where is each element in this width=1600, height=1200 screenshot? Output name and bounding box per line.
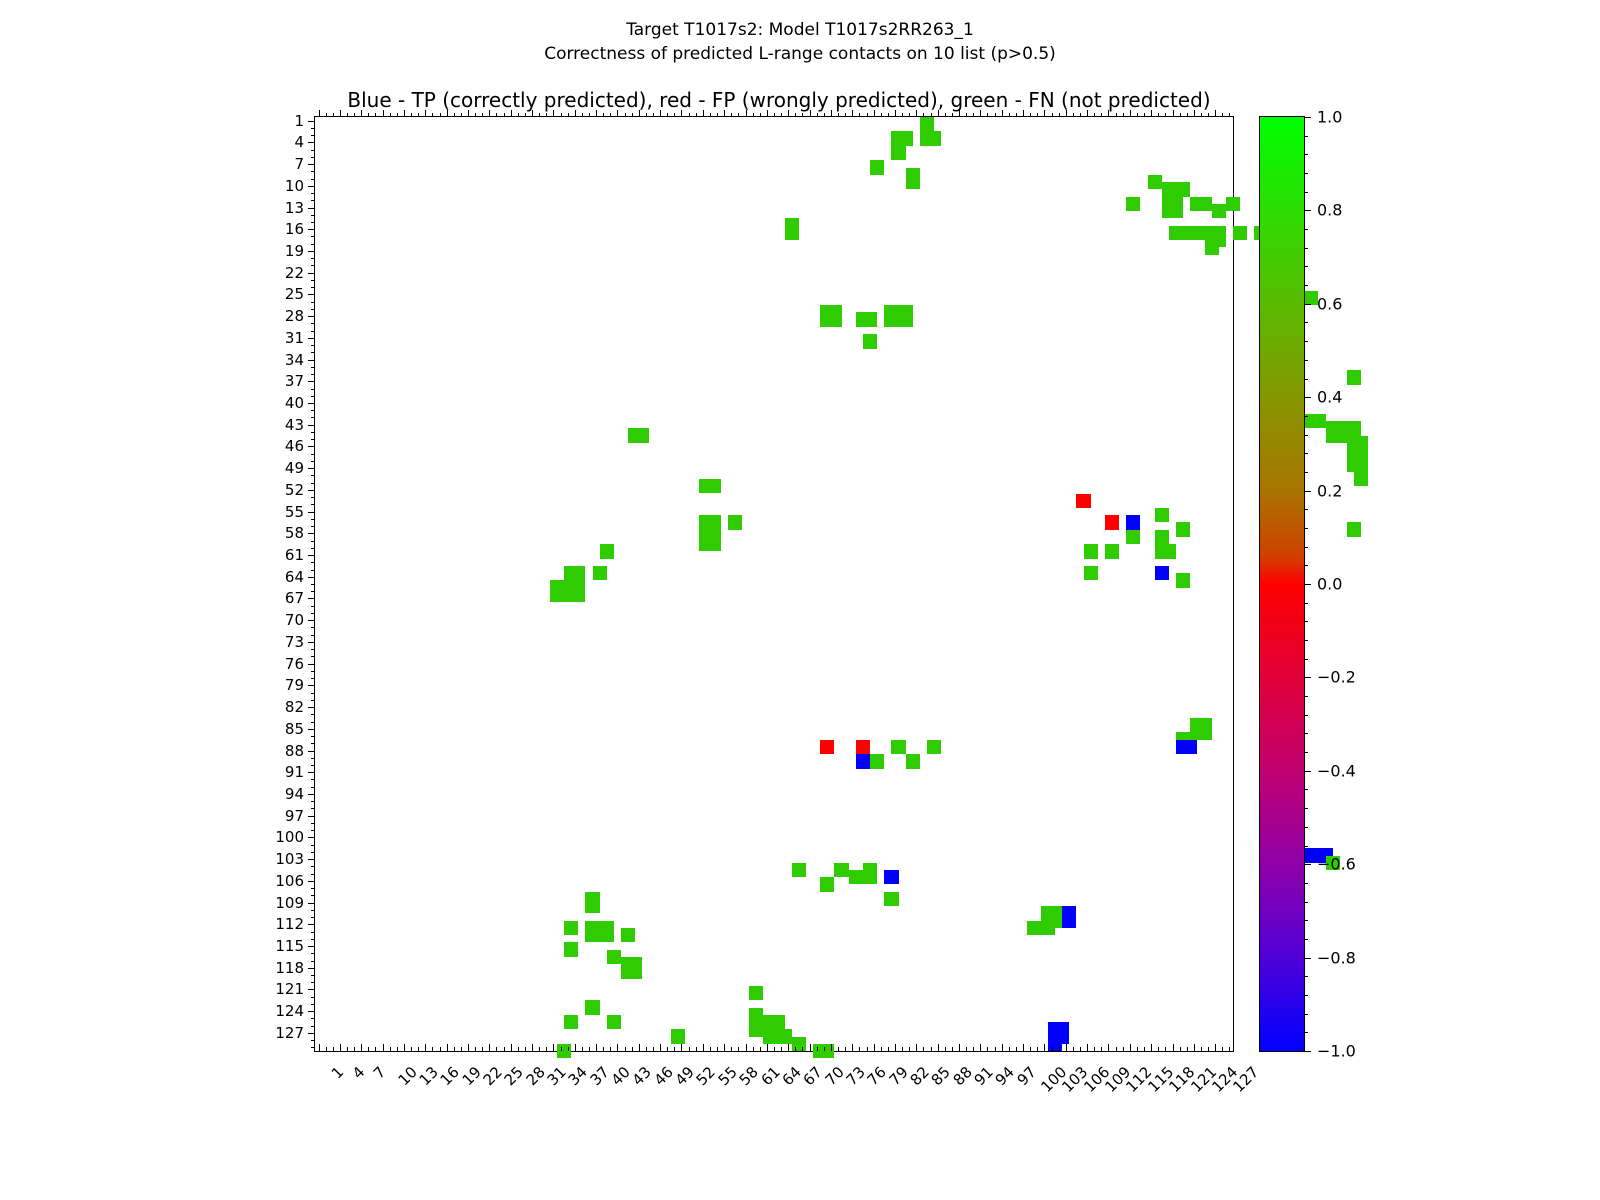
x-tick-top [987, 113, 988, 117]
y-tick-label: 16 [285, 220, 304, 238]
x-tick-bottom [617, 1044, 618, 1051]
contact-cell [1176, 740, 1197, 754]
y-tick [308, 468, 315, 469]
y-tick [311, 700, 315, 701]
y-tick [308, 707, 315, 708]
x-tick-top [845, 113, 846, 117]
y-tick [311, 179, 315, 180]
y-tick [308, 142, 315, 143]
x-tick-bottom [1037, 1047, 1038, 1051]
y-tick [311, 613, 315, 614]
x-tick-bottom [397, 1047, 398, 1051]
x-tick-top [788, 110, 789, 117]
y-tick [308, 208, 315, 209]
x-tick-bottom [788, 1044, 789, 1051]
x-tick-bottom [546, 1047, 547, 1051]
x-tick-bottom [1073, 1047, 1074, 1051]
x-tick-bottom [1066, 1044, 1067, 1051]
x-tick-bottom [1080, 1047, 1081, 1051]
y-tick [311, 649, 315, 650]
x-tick-label: 1 [327, 1063, 346, 1082]
y-tick [308, 251, 315, 252]
y-tick-label: 37 [285, 372, 304, 390]
contact-cell [1105, 515, 1119, 529]
x-tick-bottom [852, 1044, 853, 1051]
x-tick-top [340, 110, 341, 117]
x-tick-bottom [561, 1047, 562, 1051]
x-tick-bottom [767, 1044, 768, 1051]
x-tick-bottom [1187, 1047, 1188, 1051]
y-tick [308, 316, 315, 317]
x-tick-label: 7 [370, 1063, 389, 1082]
x-tick-bottom [959, 1044, 960, 1051]
contact-cell [884, 870, 898, 884]
x-tick-top [760, 113, 761, 117]
contact-cell [621, 957, 642, 979]
y-tick [311, 874, 315, 875]
x-tick-top [568, 113, 569, 117]
x-tick-top [511, 110, 512, 117]
colorbar-minor-tick [1304, 416, 1308, 417]
y-tick-label: 61 [285, 546, 304, 564]
y-tick [311, 1018, 315, 1019]
x-tick-bottom [504, 1047, 505, 1051]
x-tick-top [667, 113, 668, 117]
contact-cell [884, 305, 912, 327]
contact-cell [1226, 197, 1240, 211]
y-tick-label: 22 [285, 264, 304, 282]
colorbar-minor-tick [1304, 1014, 1308, 1015]
contact-cell [820, 740, 834, 754]
contact-cell [792, 1037, 806, 1051]
x-tick-top [881, 113, 882, 117]
contact-map-cells [315, 117, 1233, 1051]
x-tick-top [496, 113, 497, 117]
contact-cell [1126, 530, 1140, 544]
contact-cell [671, 1029, 685, 1043]
x-tick-top [404, 110, 405, 117]
x-tick-label: 97 [1013, 1063, 1039, 1089]
x-tick-bottom [319, 1044, 320, 1051]
x-tick-bottom [383, 1044, 384, 1051]
x-tick-bottom [1094, 1047, 1095, 1051]
figure-suptitle: Target T1017s2: Model T1017s2RR263_1 Cor… [0, 18, 1600, 66]
x-tick-top [390, 113, 391, 117]
x-tick-bottom [454, 1047, 455, 1051]
x-tick-top [1130, 110, 1131, 117]
contact-cell [856, 312, 877, 326]
y-tick [308, 837, 315, 838]
x-tick-bottom [995, 1047, 996, 1051]
contact-cell [1076, 494, 1090, 508]
y-tick-label: 43 [285, 416, 304, 434]
contact-cell [550, 580, 564, 602]
colorbar-tick-label: 0.8 [1317, 201, 1342, 220]
x-tick-bottom [980, 1044, 981, 1051]
x-tick-bottom [1023, 1044, 1024, 1051]
colorbar-minor-tick [1304, 528, 1308, 529]
y-tick-label: 94 [285, 785, 304, 803]
colorbar-tick-label: −1.0 [1317, 1042, 1356, 1061]
y-tick [308, 881, 315, 882]
x-tick-top [1101, 113, 1102, 117]
x-tick-top [454, 113, 455, 117]
x-tick-top [1194, 110, 1195, 117]
colorbar-minor-tick [1304, 789, 1308, 790]
x-tick-bottom [639, 1044, 640, 1051]
x-tick-bottom [468, 1044, 469, 1051]
x-tick-top [418, 113, 419, 117]
colorbar-tick-label: 0.2 [1317, 481, 1342, 500]
x-tick-top [681, 110, 682, 117]
contact-cell [785, 218, 799, 240]
x-tick-bottom [361, 1044, 362, 1051]
colorbar-tick-label: −0.4 [1317, 761, 1356, 780]
contact-cell [1347, 370, 1361, 384]
y-tick [311, 997, 315, 998]
x-tick-bottom [1229, 1047, 1230, 1051]
y-tick [308, 446, 315, 447]
y-tick [311, 128, 315, 129]
y-tick [311, 627, 315, 628]
y-tick [311, 584, 315, 585]
x-tick-bottom [340, 1044, 341, 1051]
x-tick-bottom [674, 1047, 675, 1051]
y-tick [311, 1004, 315, 1005]
contact-cell [600, 544, 614, 558]
x-tick-top [582, 113, 583, 117]
contact-cell [621, 928, 635, 942]
y-tick [311, 1026, 315, 1027]
colorbar-minor-tick [1304, 472, 1308, 473]
y-tick-label: 73 [285, 633, 304, 651]
colorbar-tick [1304, 771, 1311, 772]
y-tick [311, 1040, 315, 1041]
colorbar-tick [1304, 491, 1311, 492]
y-tick [311, 410, 315, 411]
x-tick-bottom [1059, 1047, 1060, 1051]
x-tick-top [375, 113, 376, 117]
x-tick-top [753, 113, 754, 117]
y-tick [311, 439, 315, 440]
x-tick-bottom [909, 1047, 910, 1051]
y-tick [311, 562, 315, 563]
contact-cell [1354, 465, 1368, 487]
y-tick [311, 910, 315, 911]
contact-cell [1155, 508, 1169, 522]
y-tick [308, 1033, 315, 1034]
contact-cell [564, 1015, 578, 1029]
x-tick-top [646, 113, 647, 117]
x-tick-top [504, 113, 505, 117]
y-tick [311, 222, 315, 223]
y-tick-label: 115 [275, 937, 304, 955]
x-tick-bottom [553, 1044, 554, 1051]
x-tick-bottom [1194, 1044, 1195, 1051]
x-tick-top [1094, 113, 1095, 117]
x-tick-top [1165, 113, 1166, 117]
y-tick [311, 779, 315, 780]
x-tick-bottom [1009, 1047, 1010, 1051]
x-tick-bottom [1151, 1044, 1152, 1051]
x-tick-bottom [525, 1047, 526, 1051]
y-tick-label: 67 [285, 589, 304, 607]
y-tick [311, 258, 315, 259]
y-tick [311, 714, 315, 715]
colorbar-minor-tick [1304, 603, 1308, 604]
contact-cell [1148, 175, 1162, 189]
x-tick-bottom [632, 1047, 633, 1051]
y-tick-label: 46 [285, 437, 304, 455]
x-tick-label: 4 [349, 1063, 368, 1082]
colorbar-minor-tick [1304, 733, 1308, 734]
y-tick [311, 635, 315, 636]
x-tick-bottom [895, 1044, 896, 1051]
x-tick-bottom [1201, 1047, 1202, 1051]
x-tick-top [326, 113, 327, 117]
contact-cell [607, 1015, 621, 1029]
x-tick-bottom [931, 1047, 932, 1051]
y-tick-label: 64 [285, 568, 304, 586]
x-tick-bottom [610, 1047, 611, 1051]
y-tick [308, 273, 315, 274]
x-tick-bottom [966, 1047, 967, 1051]
contact-cell [1105, 544, 1119, 558]
contact-cell [585, 1000, 599, 1014]
x-tick-bottom [596, 1044, 597, 1051]
contact-cell [1084, 566, 1098, 580]
y-tick [308, 229, 315, 230]
x-tick-top [874, 110, 875, 117]
y-tick [311, 975, 315, 976]
x-tick-bottom [603, 1047, 604, 1051]
x-tick-bottom [753, 1047, 754, 1051]
contact-cell [585, 921, 613, 943]
x-tick-top [767, 110, 768, 117]
y-tick [311, 483, 315, 484]
x-tick-bottom [1165, 1047, 1166, 1051]
x-tick-top [973, 113, 974, 117]
y-tick [311, 808, 315, 809]
y-tick-label: 13 [285, 199, 304, 217]
y-tick [311, 953, 315, 954]
y-tick [308, 664, 315, 665]
y-tick [308, 989, 315, 990]
y-tick-label: 49 [285, 459, 304, 477]
y-tick [308, 816, 315, 817]
x-tick-top [1187, 113, 1188, 117]
x-tick-top [909, 113, 910, 117]
contact-map-plot[interactable]: 1471013161922252831343740434649525558616… [314, 116, 1234, 1052]
x-tick-bottom [1044, 1044, 1045, 1051]
colorbar-minor-tick [1304, 640, 1308, 641]
y-tick [311, 265, 315, 266]
contact-cell [1212, 204, 1226, 218]
x-tick-bottom [681, 1044, 682, 1051]
x-tick-top [603, 113, 604, 117]
x-tick-top [867, 113, 868, 117]
y-tick [311, 454, 315, 455]
y-tick [311, 244, 315, 245]
x-tick-top [1052, 113, 1053, 117]
x-tick-top [724, 110, 725, 117]
x-tick-bottom [1016, 1047, 1017, 1051]
contact-cell [1176, 573, 1190, 587]
x-tick-bottom [1002, 1044, 1003, 1051]
x-tick-top [1158, 113, 1159, 117]
x-tick-top [810, 110, 811, 117]
colorbar-minor-tick [1304, 248, 1308, 249]
x-tick-top [1215, 110, 1216, 117]
x-tick-top [995, 113, 996, 117]
x-tick-top [1044, 110, 1045, 117]
colorbar-tick-label: 0.4 [1317, 388, 1342, 407]
x-tick-top [432, 113, 433, 117]
x-tick-bottom [738, 1047, 739, 1051]
y-tick [311, 895, 315, 896]
x-tick-bottom [867, 1047, 868, 1051]
x-tick-bottom [859, 1047, 860, 1051]
x-tick-bottom [1108, 1044, 1109, 1051]
x-tick-top [532, 110, 533, 117]
x-tick-top [489, 110, 490, 117]
colorbar-minor-tick [1304, 229, 1308, 230]
y-tick [308, 772, 315, 773]
colorbar-minor-tick [1304, 136, 1308, 137]
contact-cell [1126, 197, 1140, 211]
contact-cell [564, 942, 578, 956]
x-tick-bottom [646, 1047, 647, 1051]
y-tick [311, 323, 315, 324]
x-tick-top [1180, 113, 1181, 117]
x-tick-top [1002, 110, 1003, 117]
x-tick-top [852, 110, 853, 117]
x-tick-top [518, 113, 519, 117]
y-tick [311, 287, 315, 288]
x-tick-top [575, 110, 576, 117]
x-tick-top [959, 110, 960, 117]
x-tick-bottom [447, 1044, 448, 1051]
x-tick-top [1123, 113, 1124, 117]
colorbar-tick-label: −0.6 [1317, 855, 1356, 874]
y-tick [311, 932, 315, 933]
x-tick-top [795, 113, 796, 117]
colorbar-tick-label: −0.2 [1317, 668, 1356, 687]
x-tick-bottom [824, 1047, 825, 1051]
y-tick [308, 794, 315, 795]
x-tick-bottom [1144, 1047, 1145, 1051]
y-tick-label: 52 [285, 481, 304, 499]
contact-cell [891, 146, 905, 160]
y-tick [311, 519, 315, 520]
y-tick [308, 490, 315, 491]
x-tick-top [1208, 113, 1209, 117]
x-tick-top [1144, 113, 1145, 117]
x-tick-top [717, 113, 718, 117]
colorbar-minor-tick [1304, 995, 1308, 996]
contact-cell [593, 566, 607, 580]
y-tick [311, 758, 315, 759]
x-tick-bottom [482, 1047, 483, 1051]
y-tick-label: 82 [285, 698, 304, 716]
x-tick-bottom [838, 1047, 839, 1051]
contact-cell [749, 986, 763, 1000]
x-tick-top [674, 113, 675, 117]
x-tick-bottom [760, 1047, 761, 1051]
x-tick-bottom [902, 1047, 903, 1051]
y-tick [308, 403, 315, 404]
contact-cell [557, 1044, 571, 1058]
y-tick-label: 97 [285, 807, 304, 825]
colorbar-minor-tick [1304, 379, 1308, 380]
colorbar-minor-tick [1304, 808, 1308, 809]
x-tick-bottom [589, 1047, 590, 1051]
x-tick-bottom [717, 1047, 718, 1051]
x-tick-bottom [724, 1044, 725, 1051]
x-tick-bottom [1222, 1047, 1223, 1051]
x-tick-top [525, 113, 526, 117]
contact-cell [920, 131, 941, 145]
x-tick-top [931, 113, 932, 117]
colorbar[interactable]: 1.00.80.60.40.20.0−0.2−0.4−0.6−0.8−1.0 [1259, 116, 1305, 1052]
y-tick [308, 577, 315, 578]
x-tick-bottom [746, 1044, 747, 1051]
y-tick-label: 118 [275, 959, 304, 977]
x-tick-bottom [1180, 1047, 1181, 1051]
x-tick-bottom [781, 1047, 782, 1051]
y-tick [311, 671, 315, 672]
y-tick [311, 504, 315, 505]
x-tick-bottom [817, 1047, 818, 1051]
y-tick [311, 606, 315, 607]
x-tick-top [1066, 110, 1067, 117]
y-tick [311, 475, 315, 476]
contact-cell [1347, 522, 1361, 536]
y-tick [311, 548, 315, 549]
x-tick-bottom [1116, 1047, 1117, 1051]
y-tick [308, 381, 315, 382]
x-tick-top [1229, 113, 1230, 117]
contact-cell [628, 428, 649, 442]
x-tick-top [411, 113, 412, 117]
x-tick-top [425, 110, 426, 117]
x-tick-top [689, 113, 690, 117]
y-tick [308, 903, 315, 904]
y-tick [308, 121, 315, 122]
y-tick [308, 598, 315, 599]
x-tick-bottom [923, 1047, 924, 1051]
y-tick [308, 533, 315, 534]
x-tick-bottom [874, 1044, 875, 1051]
contact-cell [856, 754, 870, 768]
contact-cell [699, 515, 720, 529]
x-tick-top [1116, 113, 1117, 117]
colorbar-minor-tick [1304, 285, 1308, 286]
colorbar-minor-tick [1304, 827, 1308, 828]
x-tick-top [1108, 110, 1109, 117]
x-tick-bottom [952, 1047, 953, 1051]
colorbar-minor-tick [1304, 266, 1308, 267]
y-tick [311, 787, 315, 788]
x-tick-bottom [888, 1047, 889, 1051]
x-tick-top [383, 110, 384, 117]
colorbar-minor-tick [1304, 565, 1308, 566]
x-tick-bottom [568, 1047, 569, 1051]
y-tick [308, 620, 315, 621]
x-tick-top [1023, 110, 1024, 117]
x-tick-top [859, 113, 860, 117]
contact-cell [891, 131, 912, 145]
